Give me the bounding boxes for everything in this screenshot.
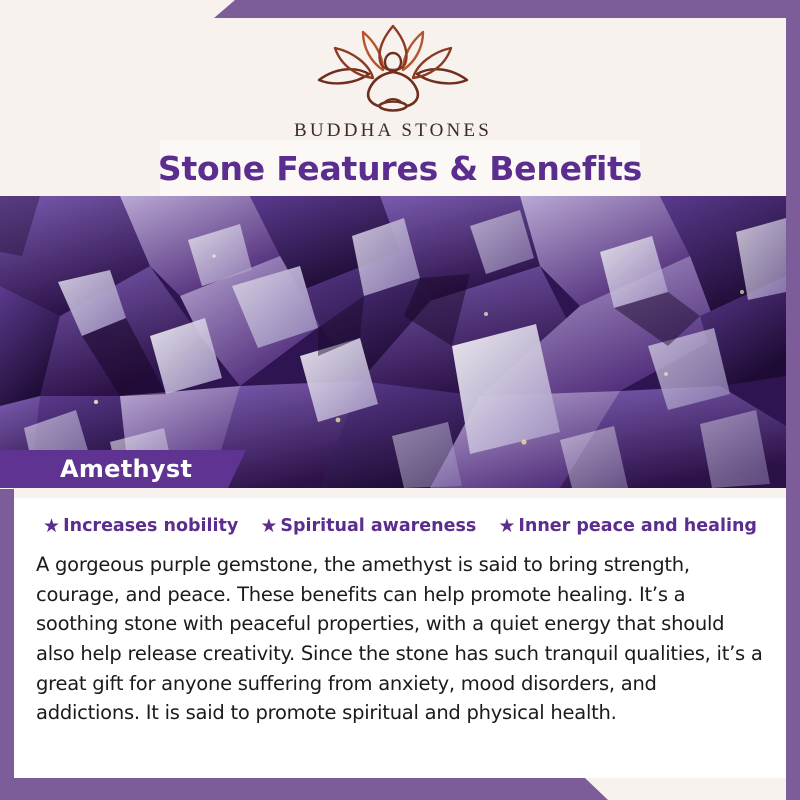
bottom-decorative-band (0, 778, 800, 800)
lotus-meditation-icon (309, 22, 477, 114)
content-panel: ★ Increases nobility ★ Spiritual awarene… (14, 498, 786, 778)
benefit-label: Increases nobility (63, 516, 238, 536)
benefit-item: ★ Increases nobility (43, 516, 238, 536)
brand-logo: BUDDHA STONES (0, 22, 786, 142)
star-icon: ★ (260, 517, 277, 536)
page-title: Stone Features & Benefits (158, 149, 642, 188)
benefit-label: Spiritual awareness (280, 516, 476, 536)
benefit-item: ★ Inner peace and healing (498, 516, 757, 536)
stone-name-banner: Amethyst (0, 450, 246, 488)
right-decorative-stripe (786, 0, 800, 800)
benefit-label: Inner peace and healing (518, 516, 757, 536)
amethyst-crystal-cluster-photo (0, 196, 786, 488)
left-decorative-stripe (0, 489, 14, 778)
benefits-list: ★ Increases nobility ★ Spiritual awarene… (36, 516, 764, 536)
title-panel: Stone Features & Benefits (160, 140, 640, 196)
stone-name: Amethyst (0, 455, 192, 483)
product-infographic: BUDDHA STONES Stone Features & Benefits (0, 0, 800, 800)
benefit-item: ★ Spiritual awareness (260, 516, 476, 536)
star-icon: ★ (498, 517, 515, 536)
stone-description: A gorgeous purple gemstone, the amethyst… (36, 550, 764, 728)
star-icon: ★ (43, 517, 60, 536)
brand-name: BUDDHA STONES (294, 120, 492, 142)
